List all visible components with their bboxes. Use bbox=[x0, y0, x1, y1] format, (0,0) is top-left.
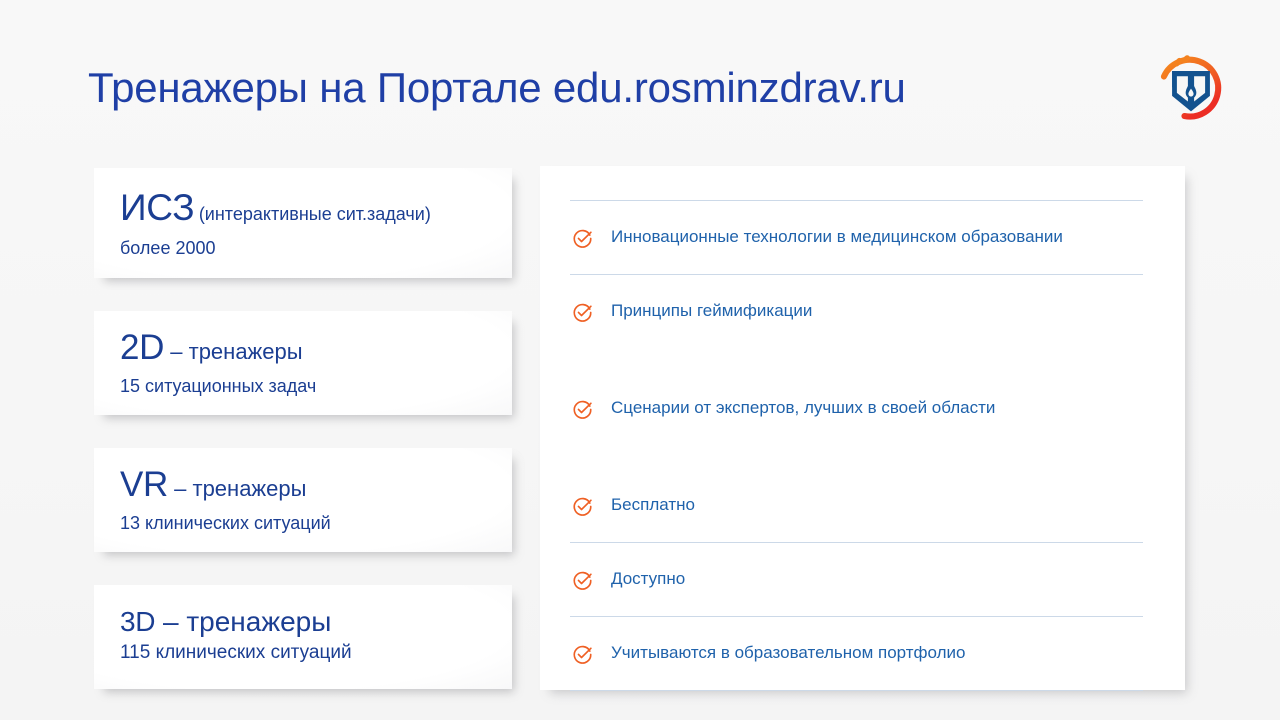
list-item[interactable]: Доступно bbox=[570, 543, 1143, 616]
card-2d[interactable]: 2D – тренажеры 15 ситуационных задач bbox=[94, 311, 512, 415]
card-vr-rest: – тренажеры bbox=[168, 476, 306, 501]
card-isz[interactable]: ИСЗ (интерактивные сит.задачи) более 200… bbox=[94, 168, 512, 278]
card-isz-title: ИСЗ bbox=[120, 187, 194, 228]
page-title: Тренажеры на Портале edu.rosminzdrav.ru bbox=[88, 60, 906, 116]
card-3d-subtitle: 115 клинических ситуаций bbox=[120, 641, 492, 665]
check-circle-icon bbox=[572, 496, 593, 517]
list-item[interactable]: Сценарии от экспертов, лучших в своей об… bbox=[570, 372, 1143, 445]
card-isz-subtitle: более 2000 bbox=[120, 237, 492, 260]
gap-after-item-2 bbox=[570, 348, 1143, 372]
list-item[interactable]: Бесплатно bbox=[570, 469, 1143, 542]
trainer-cards: ИСЗ (интерактивные сит.задачи) более 200… bbox=[94, 168, 512, 689]
card-vr-title: VR bbox=[120, 465, 168, 504]
features-panel: Инновационные технологии в медицинском о… bbox=[540, 166, 1185, 690]
list-item-label: Принципы геймификации bbox=[611, 301, 812, 321]
check-circle-icon bbox=[572, 644, 593, 665]
card-isz-paren: (интерактивные сит.задачи) bbox=[199, 204, 431, 224]
list-item-label: Бесплатно bbox=[611, 495, 695, 515]
list-item-label: Инновационные технологии в медицинском о… bbox=[611, 227, 1063, 247]
list-item-label: Учитываются в образовательном портфолио bbox=[611, 643, 965, 663]
divider-bottom bbox=[570, 690, 1143, 691]
card-2d-subtitle: 15 ситуационных задач bbox=[120, 375, 492, 398]
features-list: Инновационные технологии в медицинском о… bbox=[570, 166, 1143, 690]
list-item-label: Сценарии от экспертов, лучших в своей об… bbox=[611, 398, 995, 418]
card-isz-heading: ИСЗ (интерактивные сит.задачи) bbox=[120, 186, 492, 230]
list-item[interactable]: Учитываются в образовательном портфолио bbox=[570, 617, 1143, 690]
panel-top-spacer bbox=[570, 166, 1143, 200]
card-2d-title: 2D bbox=[120, 328, 164, 367]
card-2d-heading: 2D – тренажеры bbox=[120, 327, 492, 368]
slide: Тренажеры на Портале edu.rosminzdrav.ru bbox=[0, 0, 1280, 720]
card-vr-heading: VR – тренажеры bbox=[120, 464, 492, 505]
card-3d[interactable]: 3D – тренажеры 115 клинических ситуаций bbox=[94, 585, 512, 689]
check-circle-icon bbox=[572, 399, 593, 420]
list-item[interactable]: Принципы геймификации bbox=[570, 275, 1143, 348]
check-circle-icon bbox=[572, 302, 593, 323]
card-3d-title: 3D bbox=[120, 606, 155, 637]
list-item[interactable]: Инновационные технологии в медицинском о… bbox=[570, 201, 1143, 274]
card-vr-subtitle: 13 клинических ситуаций bbox=[120, 512, 492, 535]
check-circle-icon bbox=[572, 570, 593, 591]
card-3d-rest: – тренажеры bbox=[155, 606, 331, 637]
check-circle-icon bbox=[572, 228, 593, 249]
gap-after-item-3 bbox=[570, 445, 1143, 469]
card-3d-heading: 3D – тренажеры bbox=[120, 605, 492, 638]
card-2d-rest: – тренажеры bbox=[164, 339, 302, 364]
list-item-label: Доступно bbox=[611, 569, 685, 589]
card-vr[interactable]: VR – тренажеры 13 клинических ситуаций bbox=[94, 448, 512, 552]
book-circle-logo-icon bbox=[1148, 46, 1234, 132]
